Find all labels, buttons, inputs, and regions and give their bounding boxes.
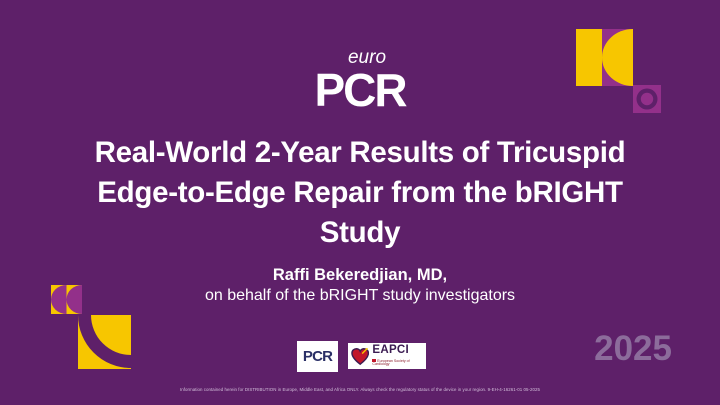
slide-title: Real-World 2-Year Results of Tricuspid E… (30, 133, 690, 253)
presenter-name: Raffi Bekeredjian, MD, (30, 265, 690, 285)
eapci-logo-subtitle-text: European Society of Cardiology (372, 359, 409, 367)
year-label: 2025 (594, 330, 672, 368)
slide-title-line-2: Edge-to-Edge Repair from the bRIGHT (30, 173, 690, 213)
heart-icon (351, 347, 369, 366)
eapci-logo-label: EAPCI (372, 345, 426, 357)
pcr-logo-label: PCR (303, 348, 332, 365)
presentation-slide: euro PCR Real-World 2-Year Results of Tr… (0, 0, 720, 405)
decorative-arc-square-icon (78, 315, 131, 369)
europcr-logo-pcr: PCR (0, 70, 720, 110)
slide-title-line-3: Study (30, 213, 690, 253)
presenter-affiliation: on behalf of the bRIGHT study investigat… (30, 285, 690, 307)
eapci-logo: EAPCI European Society of Cardiology (348, 343, 426, 369)
footer-disclaimer: Information contained herein for DISTRIB… (0, 387, 720, 393)
eapci-logo-text: EAPCI European Society of Cardiology (372, 345, 426, 367)
eapci-logo-subtitle: European Society of Cardiology (372, 359, 426, 367)
pcr-logo: PCR (297, 341, 338, 372)
slide-title-line-1: Real-World 2-Year Results of Tricuspid (30, 133, 690, 173)
presenter-block: Raffi Bekeredjian, MD, on behalf of the … (30, 265, 690, 307)
europcr-logo: euro PCR (0, 48, 720, 110)
